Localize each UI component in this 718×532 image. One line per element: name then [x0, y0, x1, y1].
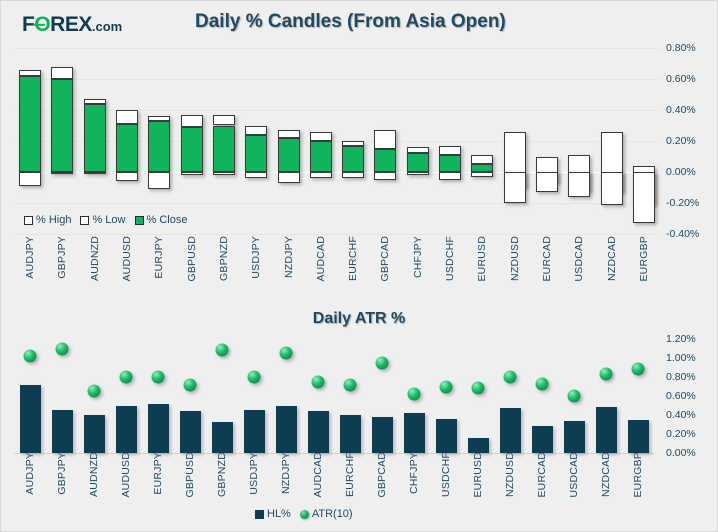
candle-low-segment [19, 172, 41, 186]
candles-y-tick: 0.00% [666, 166, 718, 178]
atr-y-tick: 1.00% [666, 352, 718, 364]
candles-y-tick: -0.20% [666, 197, 718, 209]
candle-low-segment [471, 172, 493, 177]
candles-plot-area [14, 42, 660, 238]
candle-close-segment [51, 79, 73, 172]
atr-marker [152, 371, 165, 384]
candle-low-segment [116, 172, 138, 181]
candle-low-segment [84, 172, 106, 174]
legend-sphere-icon [300, 510, 309, 519]
candle-high-segment [310, 132, 332, 141]
atr-hl-bar [564, 421, 585, 453]
atr-legend: HL%ATR(10) [255, 508, 353, 520]
candle-close-segment [181, 127, 203, 172]
candle-close-segment [148, 121, 170, 172]
candles-y-tick: 0.60% [666, 73, 718, 85]
atr-y-tick: 0.80% [666, 371, 718, 383]
atr-marker [504, 371, 517, 384]
atr-hl-bar [148, 404, 169, 453]
candle-low-segment [536, 172, 558, 192]
atr-marker [24, 350, 37, 363]
candle-low-segment [181, 172, 203, 175]
candle-low-segment [407, 172, 429, 175]
atr-hl-bar [404, 413, 425, 453]
candles-y-tick: -0.40% [666, 228, 718, 240]
atr-marker [376, 356, 389, 369]
atr-hl-bar [116, 406, 137, 454]
candle-low-segment [278, 172, 300, 183]
atr-hl-bar [628, 420, 649, 453]
candles-y-tick: 0.40% [666, 104, 718, 116]
candle-low-segment [148, 172, 170, 189]
atr-hl-bar [52, 410, 73, 453]
atr-hl-bar [532, 426, 553, 453]
atr-hl-bar [276, 406, 297, 454]
candle-high-segment [439, 146, 461, 155]
atr-y-tick: 0.60% [666, 390, 718, 402]
atr-hl-bar [372, 417, 393, 453]
atr-hl-bar [308, 411, 329, 453]
atr-marker [600, 368, 613, 381]
atr-plot-area [14, 336, 654, 454]
candle-close-segment [342, 146, 364, 172]
candle-low-segment [374, 172, 396, 180]
atr-marker [440, 380, 453, 393]
candle-low-segment [51, 172, 73, 174]
atr-marker [312, 375, 325, 388]
candle-close-segment [278, 138, 300, 172]
atr-hl-bar [500, 408, 521, 453]
atr-hl-bar [468, 438, 489, 453]
candle-low-segment [504, 172, 526, 203]
candle-high-segment [181, 115, 203, 127]
atr-y-tick: 0.00% [666, 447, 718, 459]
candle-low-segment [213, 172, 235, 175]
candle-high-segment [374, 130, 396, 149]
candle-high-segment [278, 130, 300, 138]
atr-marker [216, 344, 229, 357]
candle-close-segment [439, 155, 461, 172]
atr-y-tick: 1.20% [666, 333, 718, 345]
atr-y-tick: 0.20% [666, 428, 718, 440]
candle-low-segment [310, 172, 332, 178]
candle-close-segment [19, 76, 41, 172]
candle-low-segment [245, 172, 267, 178]
candle-low-segment [633, 172, 655, 223]
atr-marker [632, 363, 645, 376]
candle-high-segment [116, 110, 138, 124]
candle-low-segment [601, 172, 623, 205]
candle-low-segment [342, 172, 364, 178]
atr-hl-bar [244, 410, 265, 453]
atr-hl-bar [20, 385, 41, 453]
candle-high-segment [245, 126, 267, 135]
candle-low-segment [568, 172, 590, 197]
atr-marker [120, 371, 133, 384]
atr-marker [88, 385, 101, 398]
candles-y-tick: 0.80% [666, 42, 718, 54]
atr-hl-bar [340, 415, 361, 453]
candle-low-segment [439, 172, 461, 180]
atr-hl-bar [436, 419, 457, 453]
candle-high-segment [213, 115, 235, 126]
atr-marker [184, 378, 197, 391]
atr-marker [280, 347, 293, 360]
atr-marker [344, 378, 357, 391]
candle-close-segment [84, 104, 106, 172]
candle-close-segment [310, 141, 332, 172]
candle-high-segment [51, 67, 73, 79]
atr-y-tick: 0.40% [666, 409, 718, 421]
atr-hl-bar [84, 415, 105, 453]
candle-close-segment [213, 126, 235, 173]
candles-y-tick: 0.20% [666, 135, 718, 147]
candle-high-segment [471, 155, 493, 164]
candle-close-segment [471, 164, 493, 172]
candle-close-segment [116, 124, 138, 172]
candle-close-segment [374, 149, 396, 172]
atr-marker [408, 388, 421, 401]
atr-marker [472, 382, 485, 395]
candle-close-segment [407, 153, 429, 172]
atr-marker [568, 390, 581, 403]
atr-hl-bar [180, 411, 201, 453]
atr-marker [56, 342, 69, 355]
atr-hl-bar [596, 407, 617, 453]
candle-close-segment [245, 135, 267, 172]
candles-x-axis: AUDJPYGBPJPYAUDNZDAUDUSDEURJPYGBPUSDGBPN… [14, 236, 660, 306]
atr-marker [536, 377, 549, 390]
atr-hl-bar [212, 422, 233, 453]
atr-marker [248, 371, 261, 384]
